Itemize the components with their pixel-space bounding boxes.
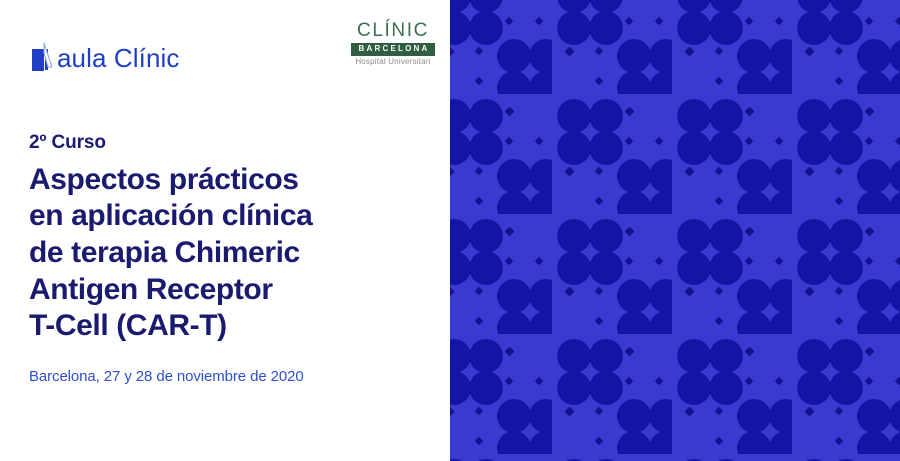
left-content-panel: aula Clínic CLÍNIC BARCELONA Hospital Un… — [0, 0, 450, 461]
course-title: Aspectos prácticos en aplicación clínica… — [29, 162, 429, 345]
course-title-line: en aplicación clínica — [29, 198, 429, 235]
course-title-line: T-Cell (CAR-T) — [29, 308, 429, 345]
clinic-barcelona-logo[interactable]: CLÍNIC BARCELONA Hospital Universitari — [351, 21, 435, 67]
course-title-block: 2º Curso Aspectos prácticos en aplicació… — [29, 132, 429, 345]
course-title-line: de terapia Chimeric — [29, 235, 429, 272]
aula-clinic-page-fold-icon — [30, 41, 56, 75]
course-edition-label: 2º Curso — [29, 132, 429, 154]
clinic-city-bar: BARCELONA — [351, 43, 435, 56]
aula-clinic-wordmark: aula Clínic — [57, 45, 180, 71]
clinic-wordmark: CLÍNIC — [351, 21, 435, 41]
circle-cluster-pattern-graphic — [450, 0, 900, 461]
decorative-pattern-panel — [450, 0, 900, 461]
course-title-line: Antigen Receptor — [29, 272, 429, 309]
clinic-subtitle: Hospital Universitari — [351, 58, 435, 67]
event-date-location: Barcelona, 27 y 28 de noviembre de 2020 — [29, 368, 304, 385]
course-title-line: Aspectos prácticos — [29, 162, 429, 199]
course-poster: aula Clínic CLÍNIC BARCELONA Hospital Un… — [0, 0, 900, 461]
aula-clinic-logo[interactable]: aula Clínic — [30, 31, 180, 75]
